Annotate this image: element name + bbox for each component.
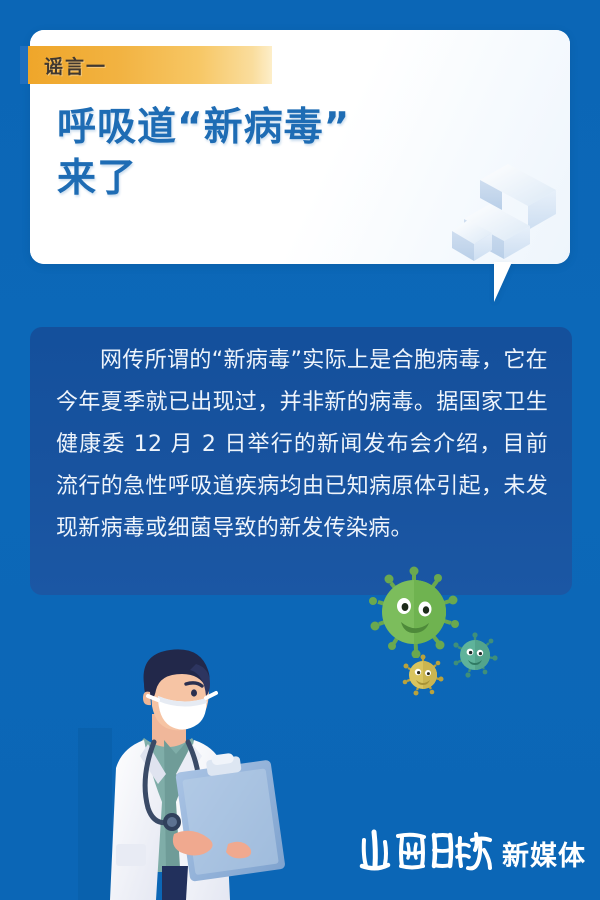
rumor-badge: 谣言一: [20, 46, 272, 84]
green-virus-icon: [368, 566, 460, 658]
brand-logo: 新媒体: [358, 826, 586, 876]
badge-label: 谣言一: [44, 52, 107, 79]
question-mark-3d-icon: [452, 158, 576, 276]
teal-virus-icon: [452, 632, 498, 678]
shanxi-daily-calligraphy-logo: [358, 826, 494, 876]
badge-accent-bar: [20, 46, 28, 84]
logo-suffix-label: 新媒体: [502, 843, 586, 876]
headline-line-1: 呼吸道“新病毒”: [57, 105, 350, 150]
page-title: 呼吸道“新病毒” 来了: [57, 103, 457, 204]
badge-body: 谣言一: [28, 46, 272, 84]
yellow-virus-icon: [402, 654, 444, 696]
poster-root: 谣言一 呼吸道“新病毒” 来了 网传所谓的“新病毒”实际上是合胞病毒，它在今年夏…: [0, 0, 600, 900]
headline-line-2: 来了: [57, 154, 457, 205]
doctor-illustration: [78, 648, 290, 900]
body-paragraph: 网传所谓的“新病毒”实际上是合胞病毒，它在今年夏季就已出现过，并非新的病毒。据国…: [56, 340, 548, 550]
